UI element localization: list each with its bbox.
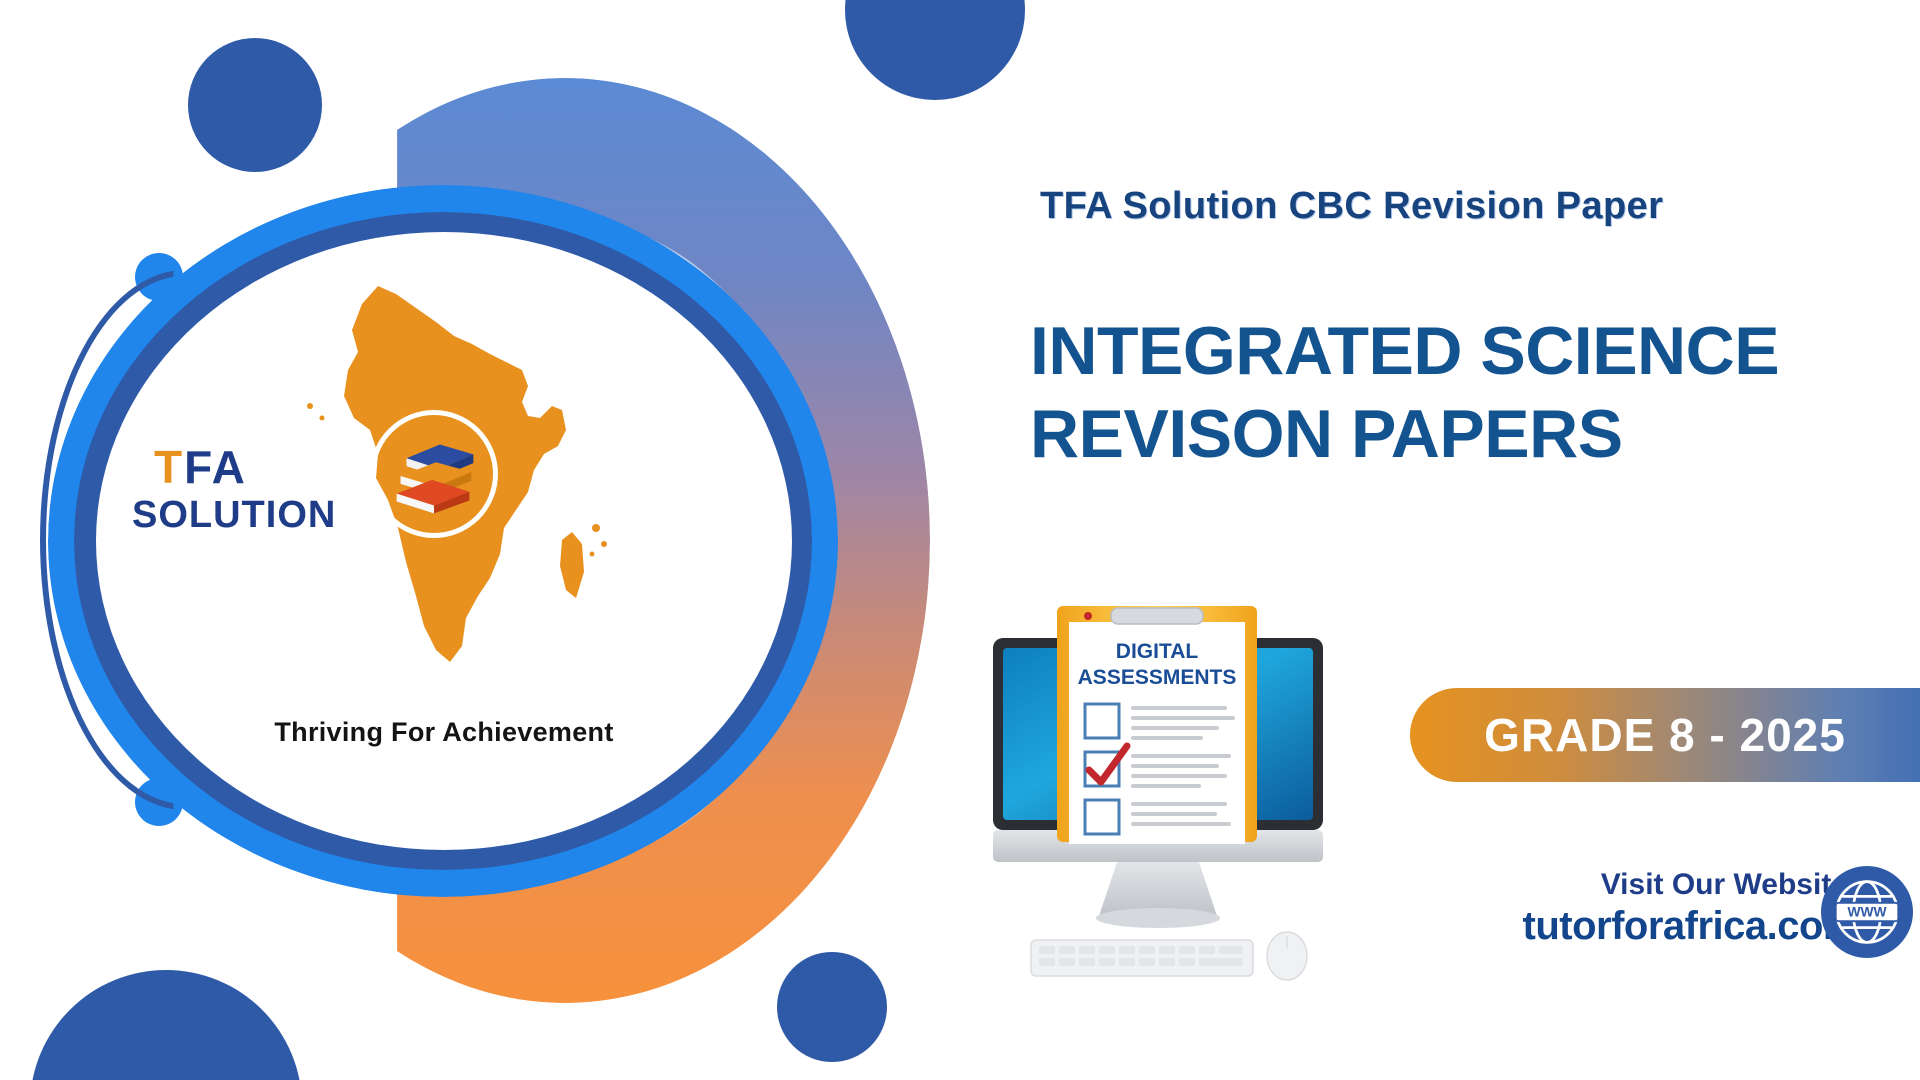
logo-brand-letter-t: T — [154, 441, 184, 493]
stacked-books-icon — [375, 415, 493, 533]
decor-circle-top-left — [188, 38, 322, 172]
page-title-line-1: INTEGRATED SCIENCE — [1030, 310, 1890, 393]
clipboard-clip — [1111, 608, 1203, 624]
globe-www-icon[interactable]: WWW — [1821, 866, 1913, 958]
checklist-lines-3 — [1131, 802, 1231, 826]
poster-canvas: TFA SOLUTION Thriving For Achievement TF… — [0, 0, 1920, 1080]
stacked-books-badge — [370, 410, 498, 538]
logo-brand-letters-fa: FA — [184, 441, 247, 493]
tfa-logo: TFA SOLUTION Thriving For Achievement — [96, 232, 792, 850]
monitor-foot — [1096, 908, 1220, 928]
decor-circle-top-middle — [845, 0, 1025, 100]
kicker-text: TFA Solution CBC Revision Paper — [1040, 185, 1663, 228]
clipboard-title-line-1: DIGITAL — [1116, 640, 1199, 663]
grade-badge: GRADE 8 - 2025 — [1410, 688, 1920, 782]
grade-badge-label: GRADE 8 - 2025 — [1484, 708, 1846, 762]
decor-circle-bottom-left — [30, 970, 302, 1080]
page-title-line-2: REVISON PAPERS — [1030, 393, 1890, 476]
logo-tagline: Thriving For Achievement — [96, 717, 792, 748]
logo-brand-solution: SOLUTION — [132, 494, 336, 537]
globe-www-label: WWW — [1847, 905, 1887, 920]
decor-circle-bottom-middle — [777, 952, 887, 1062]
page-title: INTEGRATED SCIENCE REVISON PAPERS — [1030, 310, 1890, 476]
clipboard-title-line-2: ASSESSMENTS — [1078, 666, 1237, 689]
digital-assessments-illustration: DIGITAL ASSESSMENTS — [985, 600, 1365, 1000]
monitor-stand — [1099, 862, 1217, 916]
logo-brand-tfa: TFA — [154, 444, 247, 490]
